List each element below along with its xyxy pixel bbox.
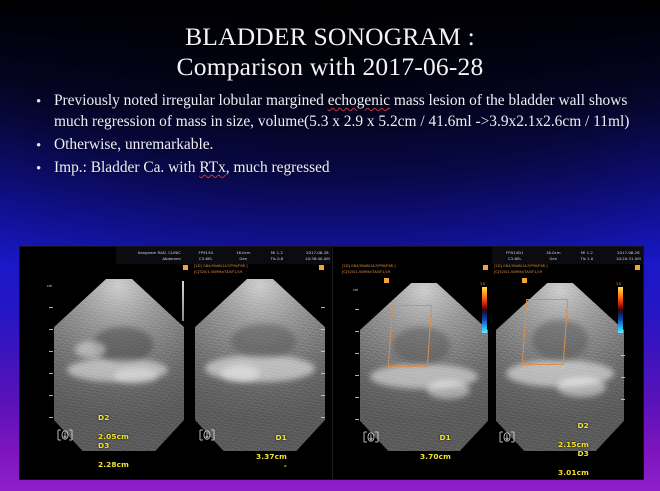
color-doppler-roi-d (522, 299, 569, 365)
bright-echo-2 (114, 368, 158, 383)
ultrasound-image: Kangnam RAD. CLINIC Abdomen FP9150 C3-6E… (19, 246, 644, 480)
colorbar-scale-label-c: 3.6 (480, 282, 485, 286)
depth-ruler-b (320, 285, 326, 445)
color-doppler-roi-c (388, 305, 432, 367)
measurement-d2: D2 2.05cm (98, 413, 129, 441)
bullet-list: • Previously noted irregular lobular mar… (0, 91, 660, 179)
list-item: • Imp.: Bladder Ca. with RTx, much regre… (0, 158, 660, 179)
ruler-unit-label: cm (47, 284, 52, 288)
probe-id: C3-6EL (498, 256, 531, 262)
origin-marker-left (183, 265, 188, 270)
spellcheck-word-rtx: RTx (199, 159, 225, 176)
ultrasound-study-right: FP014D1 C3-6EL 16.0cm Gen MI 1.2 Tis 1.0… (332, 247, 643, 479)
scan-preset: Gen (540, 256, 566, 262)
exam-time: 10:38:40 AM (298, 256, 331, 262)
measurement-group-d2-d3-right: D2 2.15cm D3 3.01cm- (558, 421, 589, 479)
exam-time: 10:20:31 AM (608, 256, 643, 262)
ultrasound-study-left: Kangnam RAD. CLINIC Abdomen FP9150 C3-6E… (20, 247, 331, 479)
measurement-group-d1-right: D1 3.70cm (420, 433, 451, 461)
body-marker-icon-c (362, 429, 380, 445)
scanner-header-right: FP014D1 C3-6EL 16.0cm Gen MI 1.2 Tis 1.0… (492, 247, 643, 264)
origin-marker-d (522, 278, 527, 283)
param-line-2: [C]520/1.50MHz/TA5/F1/19 (194, 270, 324, 276)
title-line-2: Comparison with 2017-06-28 (0, 52, 660, 82)
title-line-1: BLADDER SONOGRAM : (185, 22, 475, 51)
presentation-slide: BLADDER SONOGRAM : Comparison with 2017-… (0, 0, 660, 491)
body-marker-icon-d (498, 429, 516, 445)
depth-ruler-c: cm (354, 289, 360, 445)
bladder-wall-echo (205, 355, 314, 383)
thermal-index: Tis 1.0 (575, 256, 599, 262)
measurement-d3: D3 2.28cm (98, 441, 129, 469)
ruler-unit-label: cm (353, 288, 358, 292)
param-indicator-box (319, 265, 324, 270)
origin-marker-c (384, 278, 389, 283)
thermal-index: Tis 0.8 (265, 256, 289, 262)
list-item: • Otherwise, unremarkable. (0, 135, 660, 156)
measurement-group-d2-d3: D2 2.05cm D3 2.28cm (98, 413, 129, 470)
scan-preset: Gen (230, 256, 256, 262)
scan-parameters-right-a: [2D] G84/95dB/1A7/P90/F88 ] [C]520/1.50M… (340, 264, 488, 277)
exam-name: Abdomen (122, 256, 181, 262)
bullet-marker-icon: • (36, 159, 41, 179)
scan-parameters-right-b: [2D] G84/95dB/1A7/P90/F88 ] [C]520/1.50M… (492, 264, 640, 277)
spellcheck-word-echogenic: echogenic (328, 92, 390, 109)
doppler-colorbar-c (482, 287, 487, 333)
param-line-2: [C]520/1.50MHz/TA5/F1/19 (494, 270, 640, 276)
param-indicator-box (635, 265, 640, 270)
scanner-header-left: Kangnam RAD. CLINIC Abdomen FP9150 C3-6E… (116, 247, 331, 264)
param-line-2: [C]520/1.50MHz/TA5/F1/19 (342, 270, 488, 276)
slide-title: BLADDER SONOGRAM : Comparison with 2017-… (0, 0, 660, 81)
measurement-d2: D2 2.15cm (558, 421, 589, 449)
bright-echo-1 (427, 380, 471, 398)
colorbar-scale-label-d: 3.6 (616, 282, 621, 286)
list-item: • Previously noted irregular lobular mar… (0, 91, 660, 133)
body-marker-icon-b (198, 427, 216, 443)
bullet-text-3: Imp.: Bladder Ca. with RTx, much regress… (54, 159, 330, 176)
probe-id: C3-6EL (190, 256, 221, 262)
bullet-marker-icon: • (36, 92, 41, 112)
measurement-d1: D1 3.70cm (420, 433, 451, 461)
body-marker-icon-a (56, 427, 74, 443)
mass-lesion-echo (231, 324, 296, 358)
depth-ruler-a: cm (48, 285, 54, 445)
bullet-text-1: Previously noted irregular lobular margi… (54, 92, 629, 130)
measurement-d3: D3 3.01cm- (558, 449, 589, 479)
bullet-text-2: Otherwise, unremarkable. (54, 136, 213, 153)
probe-line-icon (182, 281, 184, 321)
depth-ruler-d (620, 289, 626, 445)
scan-sector-b (195, 279, 325, 451)
bullet-marker-icon: • (36, 136, 41, 156)
measurement-d1: D1 3.37cm- (256, 433, 287, 471)
measurement-group-d1: D1 3.37cm- (256, 433, 287, 471)
param-indicator-box (483, 265, 488, 270)
bright-echo-1 (75, 341, 106, 358)
scan-parameters-left: [2D] G84/95dB/1A7/P90/F88 ] [C]520/1.50M… (192, 264, 324, 277)
